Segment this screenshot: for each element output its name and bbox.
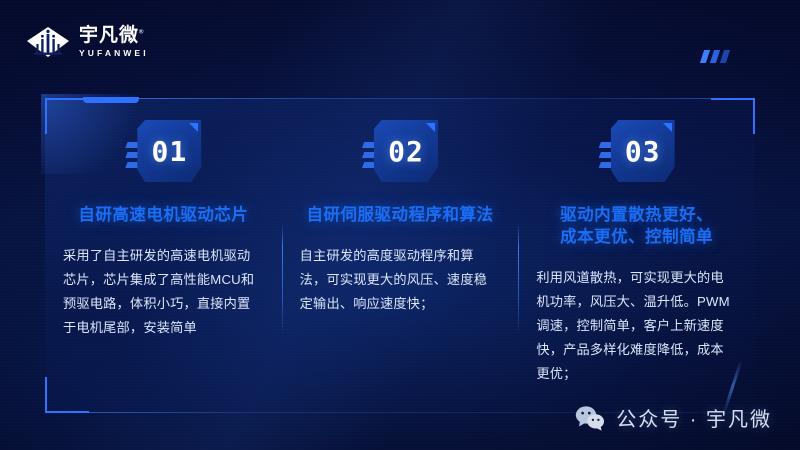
brand-name-en: YUFANWEI <box>79 49 149 58</box>
brand-name-cn: 宇凡微® <box>79 26 149 45</box>
feature-card-list: 01 自研高速电机驱动芯片 采用了自主研发的高速电机驱动芯片，芯片集成了高性能M… <box>45 98 755 413</box>
badge-number-label: 03 <box>611 120 675 182</box>
feature-card-title: 驱动内置散热更好、 成本更优、控制简单 <box>560 204 713 248</box>
feature-card-body: 采用了自主研发的高速电机驱动芯片，芯片集成了高性能MCU和预驱电路，体积小巧，直… <box>63 244 264 340</box>
brand-wordmark: 宇凡微® YUFANWEI <box>79 26 149 58</box>
watermark-label: 公众号 · 宇凡微 <box>616 403 772 432</box>
slanted-bars-decoration-icon <box>702 50 728 63</box>
wechat-watermark: 公众号 · 宇凡微 <box>575 403 772 432</box>
badge-number-label: 01 <box>137 120 201 182</box>
number-badge-03: 03 <box>599 120 675 182</box>
feature-card-01: 01 自研高速电机驱动芯片 采用了自主研发的高速电机驱动芯片，芯片集成了高性能M… <box>45 98 282 413</box>
number-badge-02: 02 <box>362 120 438 182</box>
feature-card-title: 自研高速电机驱动芯片 <box>78 204 248 226</box>
yufanwei-diamond-logo-icon <box>26 24 70 60</box>
feature-card-03: 03 驱动内置散热更好、 成本更优、控制简单 利用风道散热，可实现更大的电机功率… <box>518 98 755 413</box>
feature-card-body: 利用风道散热，可实现更大的电机功率，风压大、温升低。PWM调速，控制简单，客户上… <box>536 266 737 386</box>
badge-number-label: 02 <box>374 120 438 182</box>
title-line: 成本更优、控制简单 <box>560 226 713 248</box>
title-line: 驱动内置散热更好、 <box>560 204 713 226</box>
title-line: 自研高速电机驱动芯片 <box>78 204 248 226</box>
brand-logo: 宇凡微® YUFANWEI <box>26 24 149 60</box>
title-line: 自研伺服驱动程序和算法 <box>307 204 494 226</box>
content-panel: 01 自研高速电机驱动芯片 采用了自主研发的高速电机驱动芯片，芯片集成了高性能M… <box>45 98 755 413</box>
trademark-symbol: ® <box>139 30 144 36</box>
feature-card-body: 自主研发的高度驱动程序和算法，可实现更大的风压、速度稳定输出、响应速度快； <box>300 244 501 316</box>
feature-card-title: 自研伺服驱动程序和算法 <box>307 204 494 226</box>
feature-card-02: 02 自研伺服驱动程序和算法 自主研发的高度驱动程序和算法，可实现更大的风压、速… <box>282 98 519 413</box>
number-badge-01: 01 <box>125 120 201 182</box>
wechat-icon <box>575 405 605 431</box>
slide-root: 宇凡微® YUFANWEI 01 自研高速电机驱动芯片 <box>0 0 800 450</box>
